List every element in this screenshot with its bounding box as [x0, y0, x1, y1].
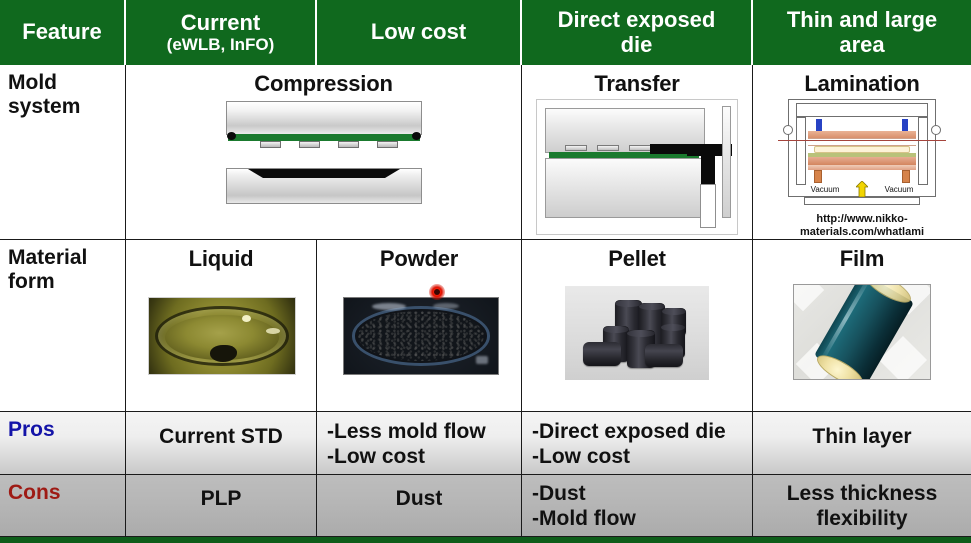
row-label-text-material-form: Materialform	[0, 240, 125, 294]
transfer-mold-diagram	[536, 99, 738, 235]
compression-die-1	[260, 141, 281, 148]
lamination-base-plate	[808, 165, 916, 170]
compression-upper-mold	[226, 101, 422, 135]
header-label-direct-exposed: Direct exposed	[558, 7, 716, 32]
cons-text-current: PLP	[126, 475, 316, 511]
cons-cell-thin-and-large-area: Less thickness flexibility	[753, 475, 971, 537]
lamination-left-spring	[814, 170, 822, 183]
cons-text-thin: Less thickness flexibility	[753, 475, 971, 531]
row-label-pros: Pros	[0, 412, 126, 475]
lamination-heater-plate-bottom	[808, 157, 916, 165]
row-label-text-mold-system: Moldsystem	[0, 65, 125, 119]
lamination-heater-plate-top	[808, 131, 916, 138]
cons-text-low-cost: Dust	[317, 475, 521, 511]
mold-title-transfer: Transfer	[522, 65, 752, 97]
compression-die-4	[377, 141, 398, 148]
compression-substrate	[228, 134, 420, 141]
mold-title-lamination: Lamination	[753, 65, 971, 97]
lamination-right-spring	[902, 170, 910, 183]
bottom-accent-strip	[0, 537, 971, 543]
cons-text-direct: -Dust -Mold flow	[522, 475, 752, 531]
material-title-film: Film	[753, 240, 971, 272]
powder-highlight-3	[476, 356, 488, 364]
pellet-5-top	[627, 330, 655, 337]
lamination-left-post	[796, 117, 806, 185]
lamination-caption-line1: http://www.nikko-	[816, 213, 907, 225]
material-title-powder: Powder	[317, 240, 521, 272]
comparison-table: Feature Current (eWLB, InFO) Low cost Di…	[0, 0, 971, 543]
mold-title-compression: Compression	[126, 65, 521, 97]
row-label-text-pros: Pros	[0, 412, 125, 442]
cons-thin-line1: Less thickness	[787, 482, 938, 505]
lamination-top-beam	[796, 103, 928, 117]
lamination-press-diagram: Vacuum Vacuum	[778, 97, 946, 212]
pellet-6-top	[661, 324, 685, 331]
pellet-8	[645, 344, 683, 367]
lamination-vacuum-label-left: Vacuum	[802, 185, 848, 194]
liquid-dark-blob	[210, 345, 236, 362]
cons-cell-current: PLP	[126, 475, 317, 537]
compression-cavity-right-taper	[385, 169, 400, 178]
header-sublabel-die: die	[621, 32, 653, 57]
pros-text-thin: Thin layer	[753, 412, 971, 449]
pros-direct-line2: -Low cost	[532, 445, 630, 468]
film-roll-photo	[793, 284, 931, 380]
transfer-lower-mold	[545, 158, 705, 218]
transfer-sprue	[701, 154, 715, 184]
lamination-right-knob	[931, 125, 941, 135]
compression-mold-diagram	[226, 101, 422, 153]
material-title-pellet: Pellet	[522, 240, 752, 272]
material-cell-pellet: Pellet	[522, 240, 753, 412]
compression-dot-left	[227, 132, 236, 140]
pros-cell-direct-exposed-die: -Direct exposed die -Low cost	[522, 412, 753, 475]
mold-cell-compression: Compression	[126, 65, 522, 240]
header-label-thin-and-large: Thin and large	[787, 7, 937, 32]
lamination-workpiece	[814, 146, 910, 153]
header-cell-low-cost: Low cost	[317, 0, 522, 65]
pros-cell-current: Current STD	[126, 412, 317, 475]
compression-cavity	[263, 169, 385, 178]
compression-die-3	[338, 141, 359, 148]
row-label-text-cons: Cons	[0, 475, 125, 505]
pellet-4-top	[603, 326, 629, 333]
row-label-mold-system: Moldsystem	[0, 65, 126, 240]
cons-cell-low-cost: Dust	[317, 475, 522, 537]
lamination-source-caption: http://www.nikko- materials.com/whatlami	[753, 213, 971, 238]
lamination-pedestal	[804, 197, 920, 205]
material-cell-film: Film	[753, 240, 971, 412]
pros-low-cost-line1: -Less mold flow	[327, 420, 486, 443]
header-label-feature: Feature	[22, 20, 101, 45]
slide-root: Feature Current (eWLB, InFO) Low cost Di…	[0, 0, 971, 543]
liquid-resin-photo	[148, 297, 296, 375]
transfer-die-2	[597, 145, 619, 151]
pellet-resin-photo	[565, 286, 709, 380]
transfer-side-wall	[722, 106, 731, 218]
lamination-right-post	[918, 117, 928, 185]
cons-direct-line1: -Dust	[532, 482, 586, 505]
compression-lower-mold-group	[226, 168, 422, 208]
cons-thin-line2: flexibility	[816, 507, 907, 530]
lamination-up-arrow-icon	[856, 181, 868, 197]
cons-direct-line2: -Mold flow	[532, 507, 636, 530]
header-label-low-cost: Low cost	[371, 20, 466, 45]
laser-pointer-core	[434, 289, 440, 295]
header-label-current: Current	[181, 10, 260, 35]
mold-cell-lamination: Lamination Vacuum	[753, 65, 971, 240]
material-cell-liquid: Liquid	[126, 240, 317, 412]
lamination-left-knob	[783, 125, 793, 135]
pellet-7	[583, 342, 621, 366]
pros-direct-line1: -Direct exposed die	[532, 420, 726, 443]
header-cell-feature: Feature	[0, 0, 126, 65]
pros-text-direct: -Direct exposed die -Low cost	[522, 412, 752, 469]
header-cell-direct-exposed-die: Direct exposed die	[522, 0, 753, 65]
powder-resin-photo	[343, 297, 499, 375]
pros-cell-low-cost: -Less mold flow -Low cost	[317, 412, 522, 475]
mold-cell-transfer: Transfer	[522, 65, 753, 240]
transfer-die-3	[629, 145, 651, 151]
material-cell-powder: Powder	[317, 240, 522, 412]
lamination-caption-line2: materials.com/whatlami	[800, 226, 924, 238]
powder-grain-surface	[358, 311, 484, 361]
compression-dot-right	[412, 132, 421, 140]
row-label-material-form: Materialform	[0, 240, 126, 412]
row-label-cons: Cons	[0, 475, 126, 537]
film-bg-shape-1	[793, 284, 824, 311]
compression-die-2	[299, 141, 320, 148]
powder-highlight-2	[433, 303, 459, 309]
pellet-1-top	[615, 300, 642, 307]
lamination-reference-line	[778, 140, 946, 141]
header-cell-thin-and-large-area: Thin and large area	[753, 0, 971, 65]
laser-pointer-dot-icon	[429, 284, 445, 300]
transfer-die-1	[565, 145, 587, 151]
header-sublabel-current: (eWLB, InFO)	[167, 35, 275, 54]
pros-text-low-cost: -Less mold flow -Low cost	[317, 412, 521, 469]
pros-cell-thin-and-large-area: Thin layer	[753, 412, 971, 475]
lamination-vacuum-label-right: Vacuum	[876, 185, 922, 194]
pellet-2-top	[639, 303, 665, 310]
transfer-plunger-well	[700, 184, 716, 228]
header-sublabel-area: area	[839, 32, 884, 57]
pros-low-cost-line2: -Low cost	[327, 445, 425, 468]
pellet-3-top	[662, 308, 686, 315]
header-cell-current: Current (eWLB, InFO)	[126, 0, 317, 65]
pros-text-current: Current STD	[126, 412, 316, 449]
compression-cavity-left-taper	[248, 169, 263, 178]
material-title-liquid: Liquid	[126, 240, 316, 272]
cons-cell-direct-exposed-die: -Dust -Mold flow	[522, 475, 753, 537]
